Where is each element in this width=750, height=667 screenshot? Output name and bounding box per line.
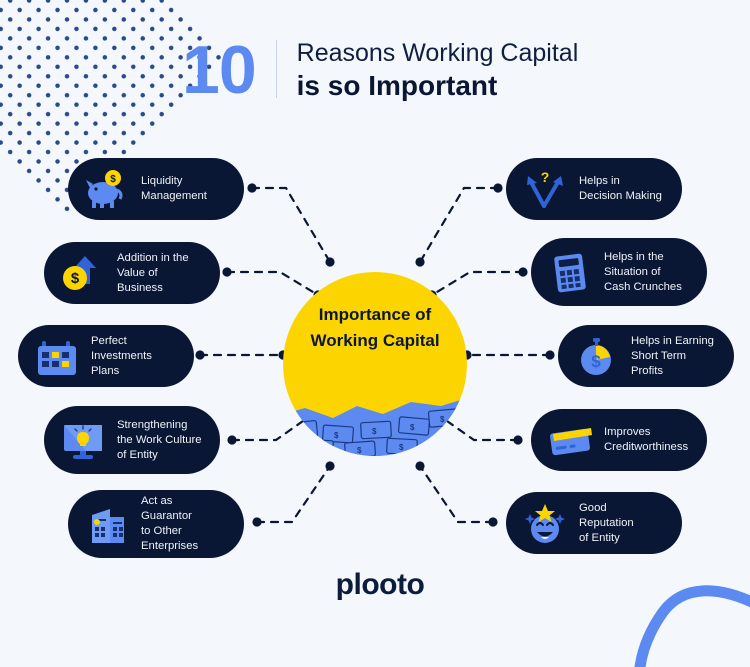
card-act-as-guarantor[interactable]: Act as Guarantor to Other Enterprises <box>68 490 244 558</box>
calendar-icon <box>34 333 80 379</box>
stopwatch-dollar-icon: $ <box>574 333 620 379</box>
card-label: Helps in Decision Making <box>579 174 662 204</box>
smiley-star-icon <box>522 500 568 546</box>
calculator-icon <box>547 249 593 295</box>
svg-text:$: $ <box>440 415 445 424</box>
credit-card-icon <box>547 417 593 463</box>
piggy-bank-icon: $ <box>84 166 130 212</box>
center-label: Importance of Working Capital <box>283 302 467 354</box>
page-title-line2: is so Important <box>297 69 579 103</box>
card-label: Helps in the Situation of Cash Crunches <box>604 250 682 295</box>
card-label: Strengthening the Work Culture of Entity <box>117 418 202 463</box>
page-header: 10 Reasons Working Capital is so Importa… <box>182 34 578 106</box>
card-label: Helps in Earning Short Term Profits <box>631 334 716 379</box>
svg-text:$: $ <box>315 444 320 453</box>
office-building-icon <box>84 501 130 547</box>
card-label: Liquidity Management <box>141 174 207 204</box>
card-improves-creditworthiness[interactable]: Improves Creditworthiness <box>531 409 707 471</box>
center-label-line2: Working Capital <box>283 328 467 354</box>
card-perfect-investments-plans[interactable]: Perfect Investments Plans <box>18 325 194 387</box>
svg-text:$: $ <box>334 431 339 440</box>
card-strengthening-work-culture[interactable]: Strengthening the Work Culture of Entity <box>44 406 220 474</box>
forked-arrows-icon: ? <box>522 166 568 212</box>
card-label: Act as Guarantor to Other Enterprises <box>141 494 226 554</box>
card-label: Perfect Investments Plans <box>91 334 176 379</box>
card-good-reputation[interactable]: Good Reputation of Entity <box>506 492 682 554</box>
svg-text:$: $ <box>298 427 303 436</box>
svg-text:$: $ <box>410 423 415 432</box>
svg-text:$: $ <box>591 352 601 371</box>
monitor-lightbulb-icon <box>60 417 106 463</box>
card-helps-in-decision-making[interactable]: ? Helps in Decision Making <box>506 158 682 220</box>
reason-count: 10 <box>182 34 276 106</box>
money-pile-icon: $$$ $$ $$$ <box>283 384 467 456</box>
page-title-line1: Reasons Working Capital <box>297 38 579 69</box>
center-label-line1: Importance of <box>283 302 467 328</box>
card-label: Good Reputation of Entity <box>579 501 664 546</box>
svg-text:$: $ <box>71 270 80 287</box>
svg-text:?: ? <box>541 169 550 185</box>
card-label: Improves Creditworthiness <box>604 425 688 455</box>
svg-text:$: $ <box>357 446 362 455</box>
card-liquidity-management[interactable]: $ Liquidity Management <box>68 158 244 220</box>
svg-text:$: $ <box>110 174 116 185</box>
svg-text:$: $ <box>399 443 404 452</box>
coin-up-arrow-icon: $ <box>60 250 106 296</box>
infographic-canvas: 10 Reasons Working Capital is so Importa… <box>0 0 750 629</box>
card-short-term-profits[interactable]: $ Helps in Earning Short Term Profits <box>558 325 734 387</box>
center-node: $$$ $$ $$$ <box>283 272 467 456</box>
card-situation-of-cash-crunches[interactable]: Helps in the Situation of Cash Crunches <box>531 238 707 306</box>
svg-text:$: $ <box>372 427 377 436</box>
plooto-logo: plooto <box>320 568 440 602</box>
card-addition-value-of-business[interactable]: $ Addition in the Value of Business <box>44 242 220 304</box>
card-label: Addition in the Value of Business <box>117 251 202 296</box>
